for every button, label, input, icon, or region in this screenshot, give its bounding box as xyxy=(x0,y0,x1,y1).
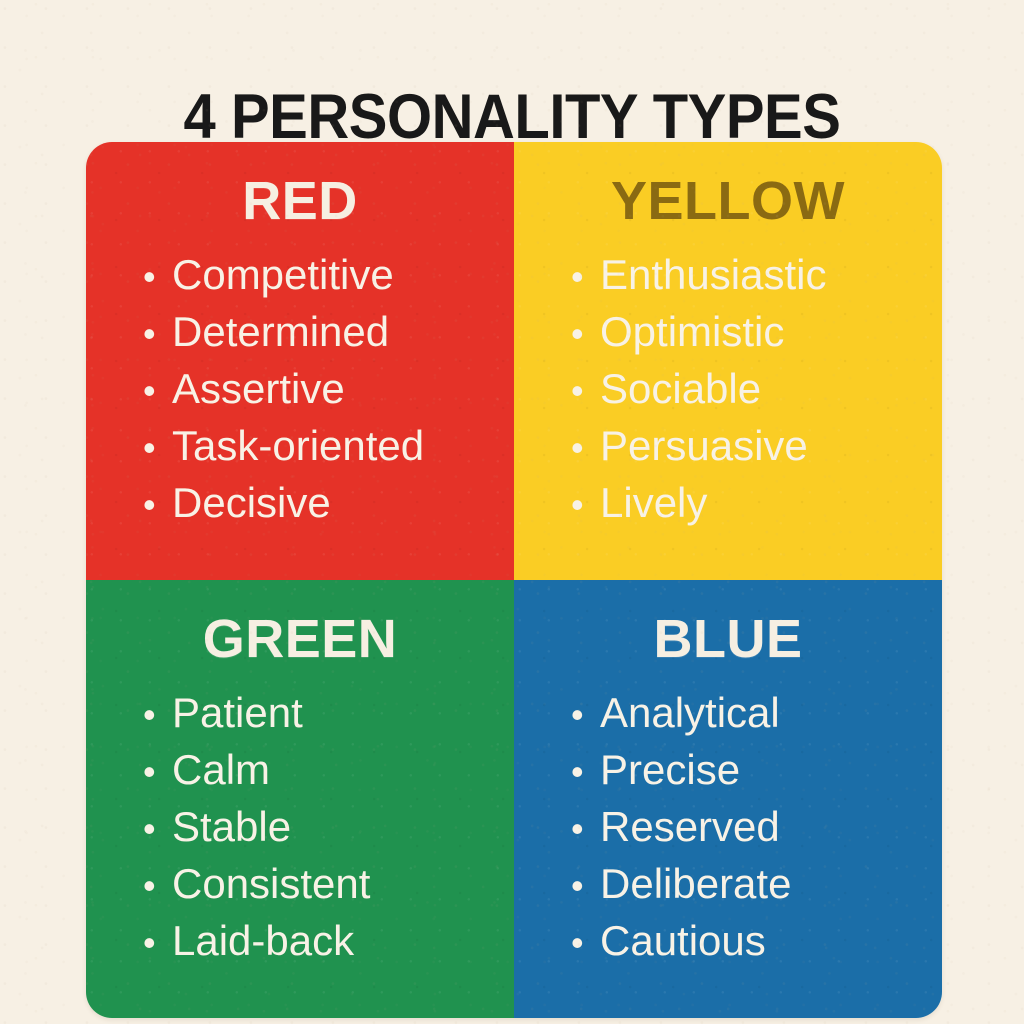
trait-label: Persuasive xyxy=(600,425,808,467)
page-title: 4 PERSONALITY TYPES xyxy=(41,86,983,149)
trait-label: Sociable xyxy=(600,368,761,410)
trait-item: • Optimistic xyxy=(571,311,942,353)
bullet-icon: • xyxy=(143,259,172,295)
trait-item: • Laid-back xyxy=(143,920,514,962)
trait-item: • Competitive xyxy=(143,254,514,296)
trait-label: Competitive xyxy=(172,254,394,296)
bullet-icon: • xyxy=(143,316,172,352)
trait-label: Optimistic xyxy=(600,311,784,353)
quadrant-green[interactable]: GREEN • Patient • Calm • Stable • Consis… xyxy=(86,580,514,1018)
trait-item: • Assertive xyxy=(143,368,514,410)
trait-label: Determined xyxy=(172,311,389,353)
trait-label: Calm xyxy=(172,749,270,791)
quadrant-red-heading: RED xyxy=(86,174,514,228)
trait-item: • Task-oriented xyxy=(143,425,514,467)
trait-label: Cautious xyxy=(600,920,766,962)
trait-label: Assertive xyxy=(172,368,345,410)
bullet-icon: • xyxy=(143,868,172,904)
trait-label: Reserved xyxy=(600,806,780,848)
trait-item: • Lively xyxy=(571,482,942,524)
trait-item: • Deliberate xyxy=(571,863,942,905)
quadrant-yellow-heading: YELLOW xyxy=(514,174,942,228)
quadrant-blue-heading: BLUE xyxy=(514,612,942,666)
bullet-icon: • xyxy=(571,316,600,352)
bullet-icon: • xyxy=(571,811,600,847)
trait-item: • Patient xyxy=(143,692,514,734)
bullet-icon: • xyxy=(143,373,172,409)
trait-label: Enthusiastic xyxy=(600,254,826,296)
quadrant-green-trait-list: • Patient • Calm • Stable • Consistent •… xyxy=(86,692,514,962)
quadrant-blue[interactable]: BLUE • Analytical • Precise • Reserved •… xyxy=(514,580,942,1018)
trait-label: Task-oriented xyxy=(172,425,424,467)
bullet-icon: • xyxy=(143,811,172,847)
bullet-icon: • xyxy=(571,925,600,961)
bullet-icon: • xyxy=(571,259,600,295)
trait-item: • Analytical xyxy=(571,692,942,734)
bullet-icon: • xyxy=(571,487,600,523)
trait-item: • Calm xyxy=(143,749,514,791)
trait-label: Lively xyxy=(600,482,707,524)
bullet-icon: • xyxy=(571,373,600,409)
bullet-icon: • xyxy=(143,925,172,961)
trait-item: • Persuasive xyxy=(571,425,942,467)
trait-item: • Consistent xyxy=(143,863,514,905)
bullet-icon: • xyxy=(143,487,172,523)
bullet-icon: • xyxy=(571,754,600,790)
bullet-icon: • xyxy=(143,697,172,733)
bullet-icon: • xyxy=(571,430,600,466)
trait-label: Consistent xyxy=(172,863,370,905)
trait-label: Precise xyxy=(600,749,740,791)
trait-item: • Precise xyxy=(571,749,942,791)
trait-item: • Cautious xyxy=(571,920,942,962)
personality-quadrant-grid: RED • Competitive • Determined • Asserti… xyxy=(86,142,942,1018)
trait-item: • Sociable xyxy=(571,368,942,410)
quadrant-yellow[interactable]: YELLOW • Enthusiastic • Optimistic • Soc… xyxy=(514,142,942,580)
quadrant-yellow-trait-list: • Enthusiastic • Optimistic • Sociable •… xyxy=(514,254,942,524)
trait-label: Laid-back xyxy=(172,920,354,962)
bullet-icon: • xyxy=(571,868,600,904)
bullet-icon: • xyxy=(143,754,172,790)
quadrant-blue-trait-list: • Analytical • Precise • Reserved • Deli… xyxy=(514,692,942,962)
trait-label: Deliberate xyxy=(600,863,791,905)
bullet-icon: • xyxy=(571,697,600,733)
trait-item: • Stable xyxy=(143,806,514,848)
trait-label: Decisive xyxy=(172,482,331,524)
trait-item: • Decisive xyxy=(143,482,514,524)
bullet-icon: • xyxy=(143,430,172,466)
trait-item: • Determined xyxy=(143,311,514,353)
quadrant-red-trait-list: • Competitive • Determined • Assertive •… xyxy=(86,254,514,524)
trait-label: Stable xyxy=(172,806,291,848)
trait-item: • Reserved xyxy=(571,806,942,848)
quadrant-red[interactable]: RED • Competitive • Determined • Asserti… xyxy=(86,142,514,580)
trait-label: Patient xyxy=(172,692,303,734)
trait-item: • Enthusiastic xyxy=(571,254,942,296)
quadrant-green-heading: GREEN xyxy=(86,612,514,666)
trait-label: Analytical xyxy=(600,692,780,734)
